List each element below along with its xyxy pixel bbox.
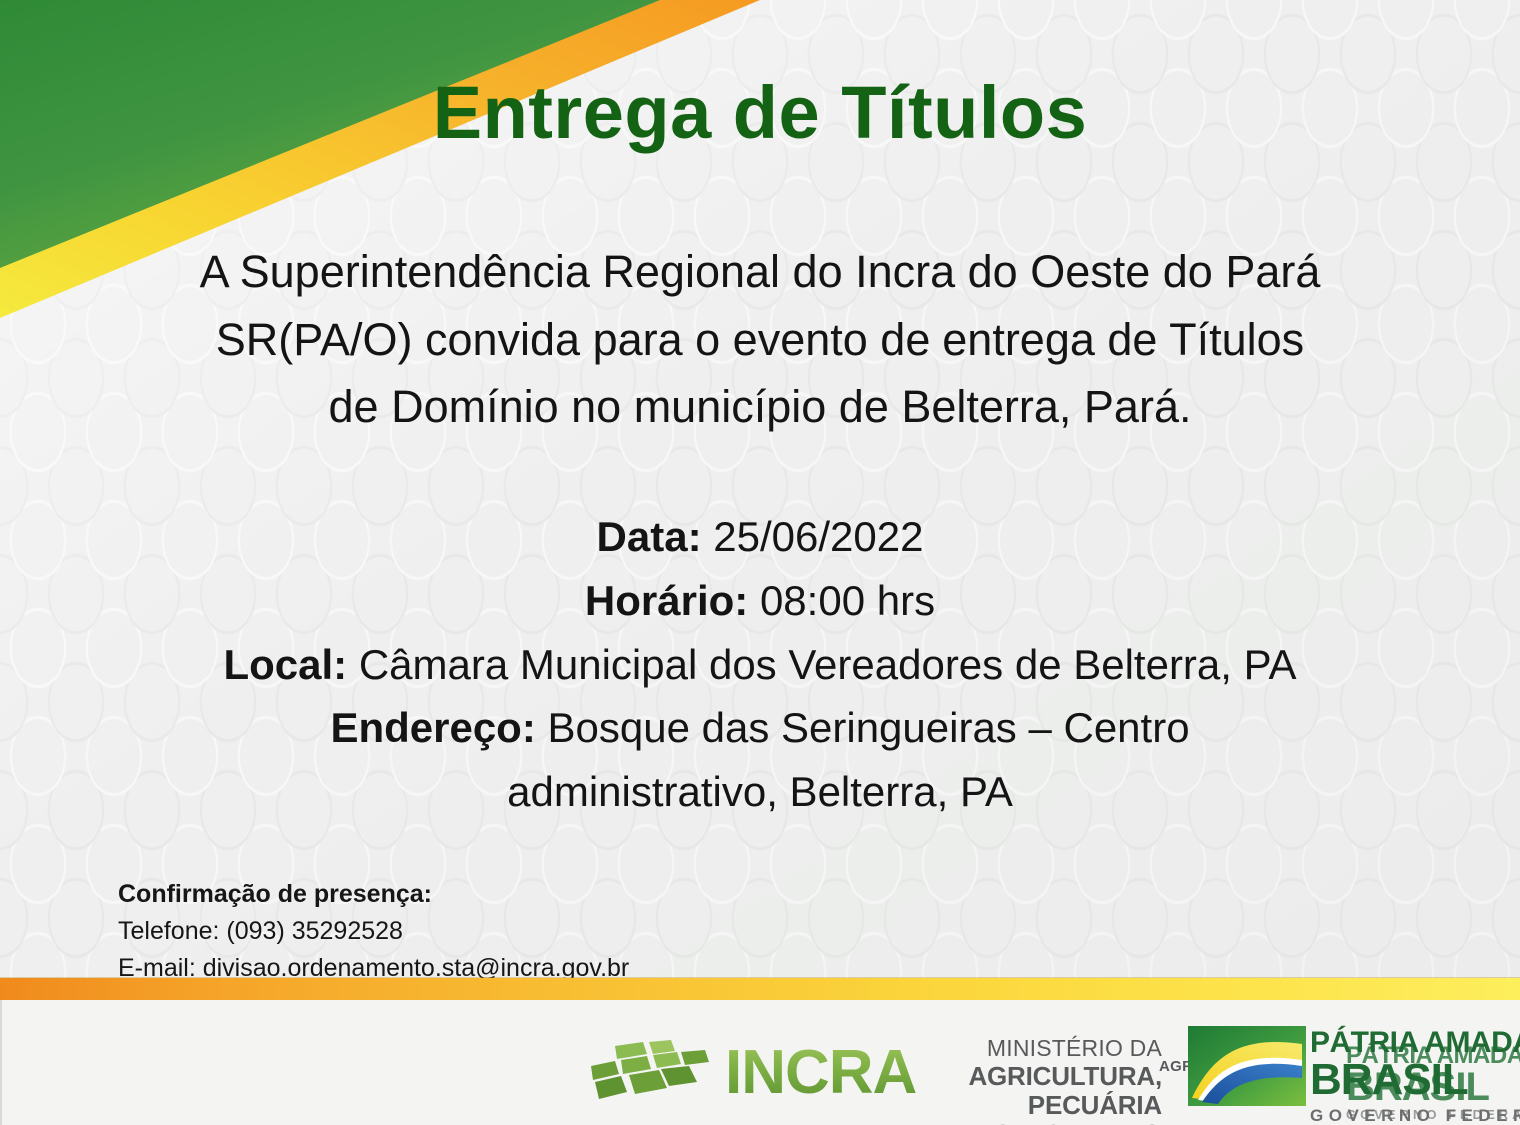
government-wordmark: PÁTRIA AMADA BRASIL GOVERNO FEDERAL bbox=[1310, 1028, 1520, 1124]
event-time-value: 08:00 hrs bbox=[760, 577, 935, 624]
event-details: Data: 25/06/2022 Horário: 08:00 hrs Loca… bbox=[60, 505, 1460, 824]
ministry-line-3: E ABASTECIMENTO bbox=[880, 1120, 1162, 1125]
confirmation-block: Confirmação de presença: Telefone: (093)… bbox=[118, 876, 629, 986]
ministry-line-1: MINISTÉRIO DA bbox=[880, 1036, 1162, 1062]
intro-line-2a: SR(PA/O) convida para o evento de bbox=[216, 314, 931, 365]
ministry-line-2: AGRICULTURA, PECUÁRIA bbox=[880, 1062, 1162, 1120]
incra-land-parcels-icon bbox=[585, 1040, 713, 1106]
event-place-row: Local: Câmara Municipal dos Vereadores d… bbox=[60, 633, 1460, 697]
confirmation-phone: Telefone: (093) 35292528 bbox=[118, 913, 629, 950]
event-time-row: Horário: 08:00 hrs bbox=[60, 569, 1460, 633]
event-date-label: Data: bbox=[597, 513, 702, 560]
event-address-row: Endereço: Bosque das Seringueiras – Cent… bbox=[60, 696, 1460, 760]
intro-line-3: de Domínio no município de Belterra, Par… bbox=[110, 373, 1410, 441]
event-date-row: Data: 25/06/2022 bbox=[60, 505, 1460, 569]
footer-gradient-divider bbox=[0, 978, 1520, 1000]
incra-logo: INCRA bbox=[585, 1040, 916, 1106]
ministry-of-agriculture-label: MINISTÉRIO DA AGRICULTURA, PECUÁRIA E AB… bbox=[880, 1036, 1162, 1125]
event-place-value: Câmara Municipal dos Vereadores de Belte… bbox=[359, 641, 1297, 688]
event-address-label: Endereço: bbox=[330, 704, 535, 751]
federal-government-logo: PÁTRIA AMADA BRASIL GOVERNO FEDERAL PÁTR… bbox=[1188, 1022, 1520, 1114]
page-title: Entrega de Títulos bbox=[0, 74, 1520, 152]
government-line-2: BRASIL bbox=[1310, 1059, 1520, 1101]
intro-line-2b: entrega de Títulos bbox=[942, 314, 1304, 365]
event-time-label: Horário: bbox=[585, 577, 748, 624]
event-address-value-line-2: administrativo, Belterra, PA bbox=[507, 768, 1013, 815]
invitation-poster: Entrega de Títulos A Superintendência Re… bbox=[0, 0, 1520, 1125]
confirmation-heading: Confirmação de presença: bbox=[118, 876, 629, 913]
government-line-1: PÁTRIA AMADA bbox=[1310, 1028, 1520, 1058]
government-line-3: GOVERNO FEDERAL bbox=[1310, 1107, 1520, 1124]
event-place-label: Local: bbox=[223, 641, 347, 688]
event-address-row-continued: administrativo, Belterra, PA bbox=[60, 760, 1460, 824]
brazil-flag-swoosh-icon bbox=[1188, 1026, 1306, 1106]
event-address-value-line-1: Bosque das Seringueiras – Centro bbox=[548, 704, 1190, 751]
intro-line-1: A Superintendência Regional do Incra do … bbox=[110, 238, 1410, 306]
event-date-value: 25/06/2022 bbox=[713, 513, 923, 560]
intro-paragraph: A Superintendência Regional do Incra do … bbox=[110, 238, 1410, 441]
intro-line-2: SR(PA/O) convida para o evento de entreg… bbox=[110, 306, 1410, 374]
